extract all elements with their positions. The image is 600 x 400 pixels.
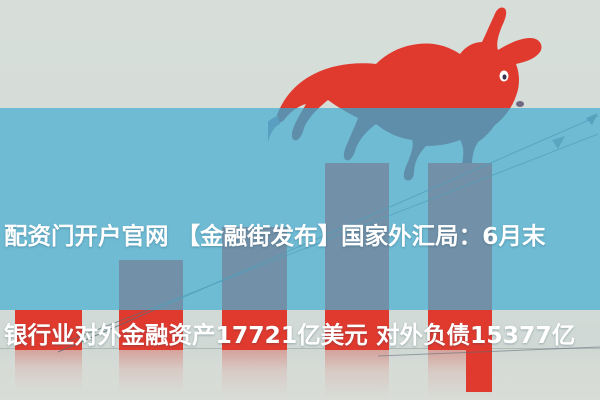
- headline-line-1: 配资门开户官网 【金融街发布】国家外汇局：6月末: [4, 220, 600, 253]
- bull-nostril-icon: [516, 101, 524, 107]
- bull-eye-icon: [500, 71, 509, 82]
- news-banner-image: 配资门开户官网 【金融街发布】国家外汇局：6月末 银行业对外金融资产17721亿…: [0, 0, 600, 400]
- headline-line-2: 银行业对外金融资产17721亿美元 对外负债15377亿: [4, 319, 600, 352]
- headline-text: 配资门开户官网 【金融街发布】国家外汇局：6月末 银行业对外金融资产17721亿…: [4, 154, 600, 400]
